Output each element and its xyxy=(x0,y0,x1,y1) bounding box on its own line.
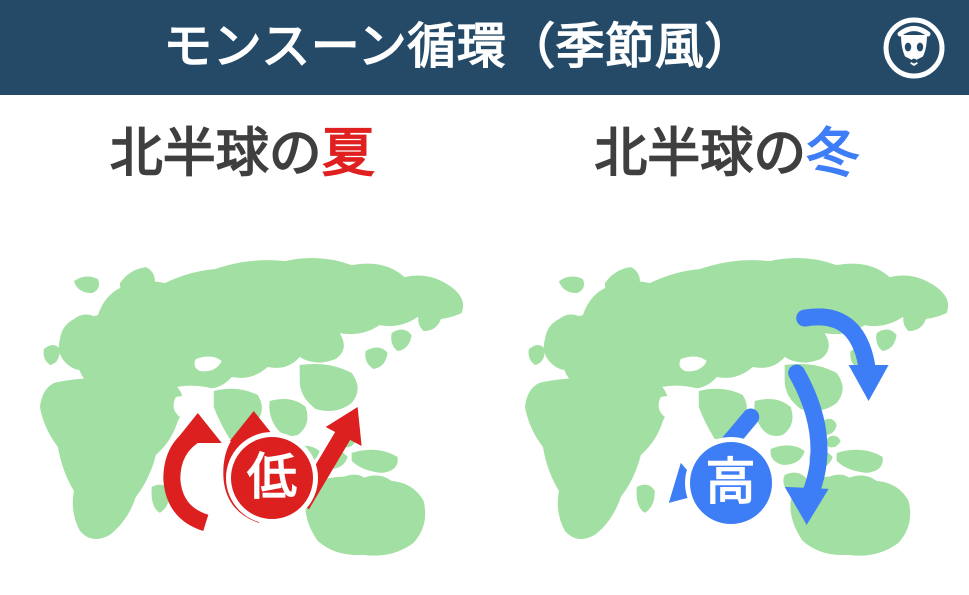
panel-summer-heading: 北半球の夏 xyxy=(0,127,485,180)
panel-winter-heading-season: 冬 xyxy=(806,124,859,183)
header-bar: モンスーン循環（季節風） xyxy=(0,0,969,95)
wind-arrows-summer xyxy=(0,225,485,575)
wind-arrow-summer-1-shaft xyxy=(172,433,206,523)
panel-summer-heading-prefix: 北半球の xyxy=(110,124,322,183)
pressure-badge-low: 低 xyxy=(226,432,318,524)
season-panels: 北半球の夏 xyxy=(0,95,969,595)
panel-winter: 北半球の冬 xyxy=(485,95,969,595)
pressure-badge-high-glyph: 高 xyxy=(706,457,756,507)
panel-winter-heading: 北半球の冬 xyxy=(485,127,969,180)
wind-arrow-winter-2-shaft xyxy=(796,373,818,493)
map-stage-summer: 低 xyxy=(0,225,485,575)
page-title: モンスーン循環（季節風） xyxy=(163,23,754,72)
map-stage-winter: 高 xyxy=(485,225,969,575)
mascot-circle-bowtie-logo-icon xyxy=(883,17,945,79)
wind-arrow-summer-1-head xyxy=(174,413,222,443)
panel-summer: 北半球の夏 xyxy=(0,95,485,595)
monsoon-circulation-infographic: モンスーン循環（季節風） 北半球の夏 xyxy=(0,0,969,595)
wind-arrow-winter-2-head xyxy=(784,487,828,525)
pressure-badge-high: 高 xyxy=(685,437,777,529)
panel-winter-heading-prefix: 北半球の xyxy=(594,124,806,183)
wind-arrow-winter-1-head xyxy=(848,365,888,401)
pressure-badge-low-glyph: 低 xyxy=(247,452,297,502)
panel-summer-heading-season: 夏 xyxy=(322,124,375,183)
wind-arrow-winter-1-shaft xyxy=(804,317,866,365)
